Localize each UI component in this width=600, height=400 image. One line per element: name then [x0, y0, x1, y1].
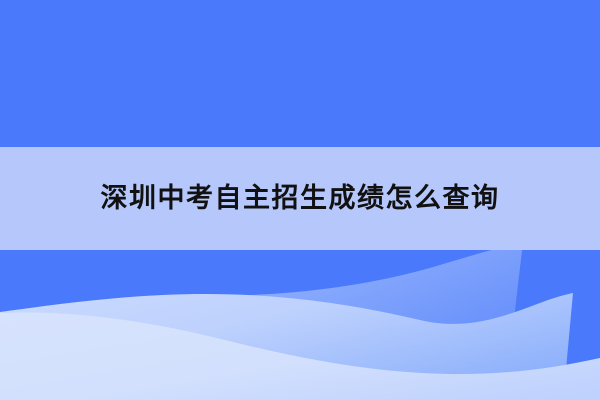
page-title: 深圳中考自主招生成绩怎么查询: [101, 185, 500, 212]
wave-decoration-area: [0, 250, 600, 400]
banner-graphic: 深圳中考自主招生成绩怎么查询: [0, 0, 600, 400]
title-band: 深圳中考自主招生成绩怎么查询: [0, 147, 600, 250]
wave-svg: [0, 250, 600, 400]
top-color-block: [0, 0, 600, 147]
